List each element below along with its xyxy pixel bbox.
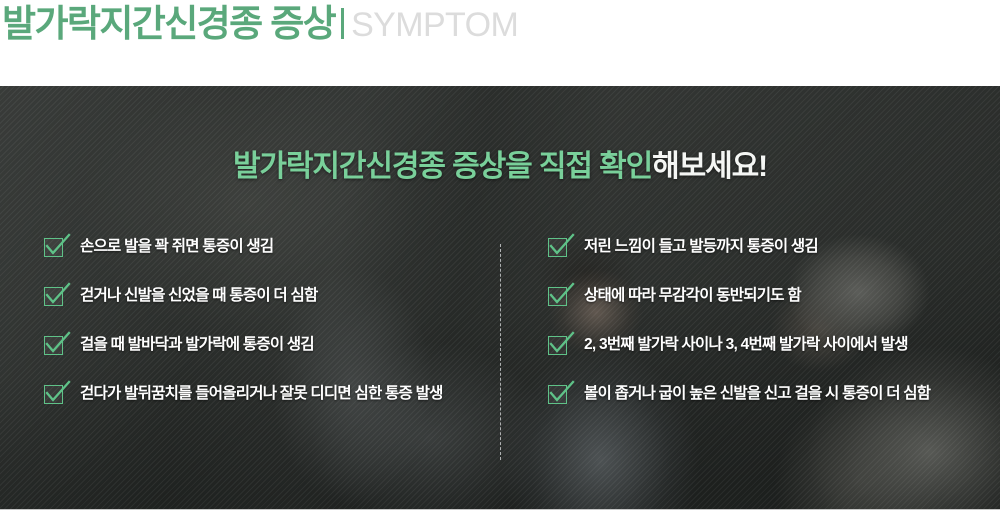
symptom-list-right: 저린 느낌이 들고 발등까지 통증이 생김 상태에 따라 무감각이 동반되기도 … [548, 236, 968, 432]
symptom-list-left: 손으로 발을 꽉 쥐면 통증이 생김 걷거나 신발을 신었을 때 통증이 더 심… [44, 236, 464, 432]
list-item-label: 저린 느낌이 들고 발등까지 통증이 생김 [584, 236, 818, 257]
list-item-label: 걷다가 발뒤꿈치를 들어올리거나 잘못 디디면 심한 통증 발생 [80, 383, 443, 404]
list-item-label: 볼이 좁거나 굽이 높은 신발을 신고 걸을 시 통증이 더 심함 [584, 383, 930, 404]
symptom-page: 발가락지간신경종 증상 SYMPTOM 발가락지간신경종 증상을 직접 확인해보… [0, 0, 1000, 511]
list-item: 손으로 발을 꽉 쥐면 통증이 생김 [44, 236, 464, 262]
banner-bottom-edge [0, 509, 1000, 510]
column-divider [500, 244, 501, 460]
checkbox-icon [44, 336, 63, 355]
page-title-korean: 발가락지간신경종 증상 [2, 2, 335, 46]
checkbox-icon [548, 287, 567, 306]
checkbox-icon [548, 238, 567, 257]
checkbox-icon [44, 238, 63, 257]
page-header: 발가락지간신경종 증상 SYMPTOM [0, 0, 1000, 86]
list-item-label: 걸을 때 발바닥과 발가락에 통증이 생김 [80, 334, 314, 355]
banner-heading-white: 해보세요! [652, 150, 767, 183]
list-item: 걷거나 신발을 신었을 때 통증이 더 심함 [44, 285, 464, 311]
banner-heading-green: 발가락지간신경종 증상을 직접 확인 [233, 150, 652, 183]
list-item: 걸을 때 발바닥과 발가락에 통증이 생김 [44, 334, 464, 360]
list-item: 상태에 따라 무감각이 동반되기도 함 [548, 285, 968, 311]
symptom-banner: 발가락지간신경종 증상을 직접 확인해보세요! 손으로 발을 꽉 쥐면 통증이 … [0, 86, 1000, 510]
checkbox-icon [44, 385, 63, 404]
page-title-english: SYMPTOM [351, 3, 518, 47]
list-item-label: 2, 3번째 발가락 사이나 3, 4번째 발가락 사이에서 발생 [584, 334, 908, 355]
list-item-label: 손으로 발을 꽉 쥐면 통증이 생김 [80, 236, 273, 257]
title-divider [341, 8, 344, 39]
list-item-label: 상태에 따라 무감각이 동반되기도 함 [584, 285, 801, 306]
page-title: 발가락지간신경종 증상 SYMPTOM [2, 2, 518, 47]
banner-heading: 발가락지간신경종 증상을 직접 확인해보세요! [0, 148, 1000, 186]
checkbox-icon [548, 336, 567, 355]
list-item: 저린 느낌이 들고 발등까지 통증이 생김 [548, 236, 968, 262]
list-item: 걷다가 발뒤꿈치를 들어올리거나 잘못 디디면 심한 통증 발생 [44, 383, 464, 409]
checkbox-icon [548, 385, 567, 404]
checkbox-icon [44, 287, 63, 306]
list-item-label: 걷거나 신발을 신었을 때 통증이 더 심함 [80, 285, 318, 306]
list-item: 2, 3번째 발가락 사이나 3, 4번째 발가락 사이에서 발생 [548, 334, 968, 360]
symptom-columns: 손으로 발을 꽉 쥐면 통증이 생김 걷거나 신발을 신었을 때 통증이 더 심… [0, 236, 1000, 476]
list-item: 볼이 좁거나 굽이 높은 신발을 신고 걸을 시 통증이 더 심함 [548, 383, 968, 409]
